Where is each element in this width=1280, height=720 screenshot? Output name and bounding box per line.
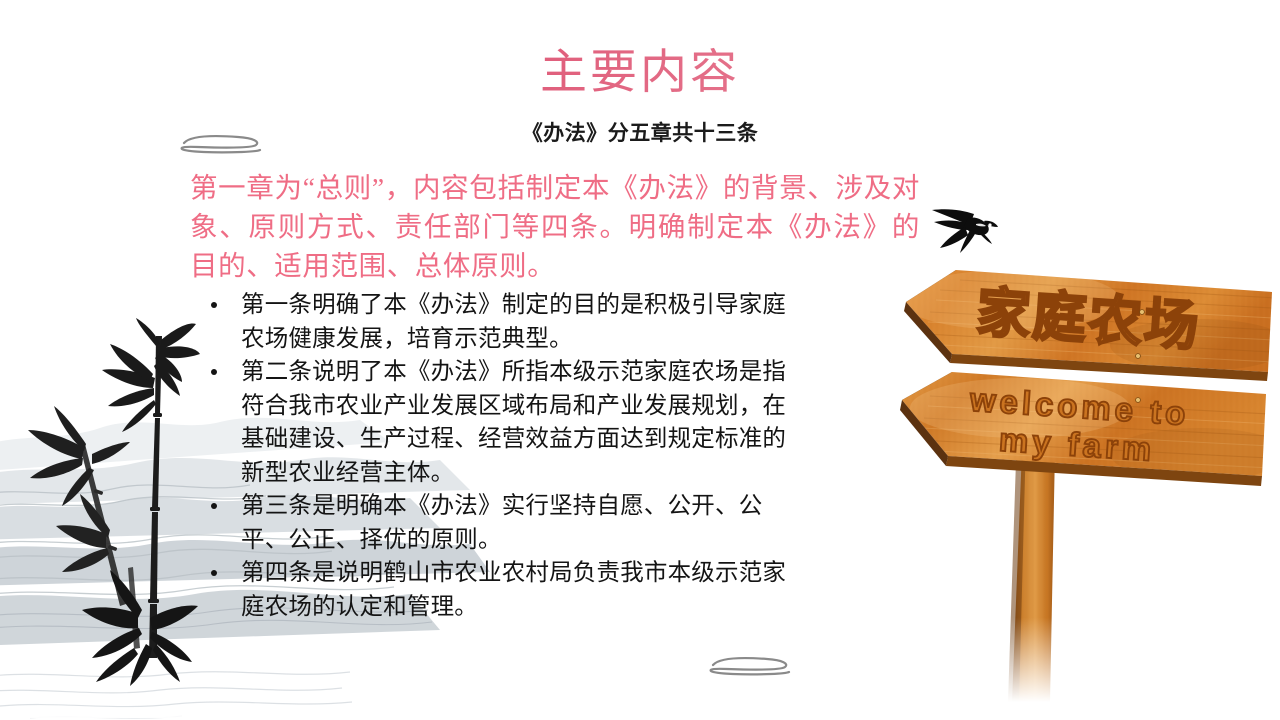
slide-canvas: 家庭农场: [0, 0, 1280, 720]
bullet-dot-icon: [211, 570, 217, 576]
list-item: 第三条是明确本《办法》实行坚持自愿、公开、公平、公正、择优的原则。: [205, 489, 805, 556]
page-title: 主要内容: [0, 47, 1280, 100]
list-item-label: 第三条是明确本《办法》实行坚持自愿、公开、公平、公正、择优的原则。: [241, 489, 805, 556]
bullet-dot-icon: [211, 302, 217, 308]
bullet-dot-icon: [211, 369, 217, 375]
signpost-bottom-text-line2: my farm: [998, 421, 1156, 468]
list-item-label: 第二条说明了本《办法》所指本级示范家庭农场是指符合我市农业产业发展区域布局和产业…: [241, 355, 805, 489]
list-item: 第二条说明了本《办法》所指本级示范家庭农场是指符合我市农业产业发展区域布局和产业…: [205, 355, 805, 489]
list-item-label: 第四条是说明鹤山市农业农村局负责我市本级示范家庭农场的认定和管理。: [241, 556, 805, 623]
bullet-dot-icon: [211, 503, 217, 509]
content-bullet-list: 第一条明确了本《办法》制定的目的是积极引导家庭农场健康发展，培育示范典型。 第二…: [205, 288, 805, 623]
list-item: 第四条是说明鹤山市农业农村局负责我市本级示范家庭农场的认定和管理。: [205, 556, 805, 623]
highlight-paragraph: 第一章为“总则”，内容包括制定本《办法》的背景、涉及对象、原则方式、责任部门等四…: [190, 168, 920, 285]
list-item-label: 第一条明确了本《办法》制定的目的是积极引导家庭农场健康发展，培育示范典型。: [241, 288, 805, 355]
wooden-signpost-decoration: 家庭农场: [900, 250, 1280, 720]
signpost-top-label: 家庭农场: [975, 283, 1202, 358]
signpost-top-text: 家庭农场: [975, 283, 1202, 358]
signpost-bottom-label: welcome to my farm: [965, 381, 1190, 470]
list-item: 第一条明确了本《办法》制定的目的是积极引导家庭农场健康发展，培育示范典型。: [205, 288, 805, 355]
signpost-bottom-text-line1: welcome to: [968, 381, 1191, 433]
cloud-scroll-motif-bottom: [697, 648, 797, 693]
swallow-bird-icon: [918, 196, 1004, 258]
page-subtitle: 《办法》分五章共十三条: [0, 117, 1280, 147]
